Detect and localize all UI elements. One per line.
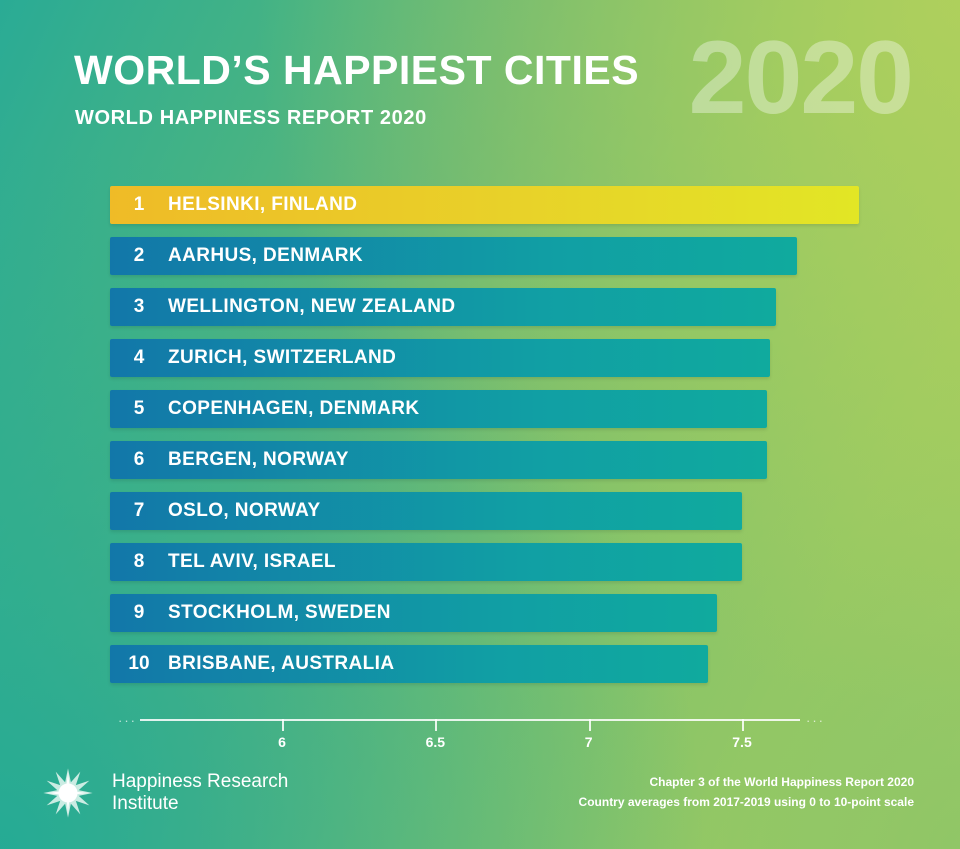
x-axis: ··· ··· 66.577.5 xyxy=(0,710,960,770)
rank-number: 3 xyxy=(110,296,168,318)
city-label: TEL AVIV, ISRAEL xyxy=(168,551,336,573)
chart-row: 7OSLO, NORWAY xyxy=(0,492,960,530)
chart-row: 2AARHUS, DENMARK xyxy=(0,237,960,275)
axis-line xyxy=(140,719,800,721)
city-label: STOCKHOLM, SWEDEN xyxy=(168,602,391,624)
axis-tick-label: 7 xyxy=(585,734,593,750)
chart-row: 1HELSINKI, FINLAND xyxy=(0,186,960,224)
axis-left-dots: ··· xyxy=(118,714,137,727)
rank-number: 8 xyxy=(110,551,168,573)
city-bar: 7OSLO, NORWAY xyxy=(110,492,742,530)
rank-number: 4 xyxy=(110,347,168,369)
city-label: WELLINGTON, NEW ZEALAND xyxy=(168,296,456,318)
chart-row: 3WELLINGTON, NEW ZEALAND xyxy=(0,288,960,326)
rank-number: 10 xyxy=(110,653,168,675)
city-label: OSLO, NORWAY xyxy=(168,500,321,522)
city-bar: 3WELLINGTON, NEW ZEALAND xyxy=(110,288,776,326)
city-label: BERGEN, NORWAY xyxy=(168,449,349,471)
page-subtitle: WORLD HAPPINESS REPORT 2020 xyxy=(75,108,427,128)
starburst-logo-icon xyxy=(40,765,96,821)
rank-number: 2 xyxy=(110,245,168,267)
chart-row: 4ZURICH, SWITZERLAND xyxy=(0,339,960,377)
chart-row: 8TEL AVIV, ISRAEL xyxy=(0,543,960,581)
credit-line-1: Chapter 3 of the World Happiness Report … xyxy=(579,772,914,792)
happiness-bar-chart: 1HELSINKI, FINLAND2AARHUS, DENMARK3WELLI… xyxy=(0,186,960,696)
axis-tick xyxy=(742,719,744,731)
rank-number: 6 xyxy=(110,449,168,471)
axis-tick xyxy=(589,719,591,731)
axis-tick xyxy=(435,719,437,731)
city-label: ZURICH, SWITZERLAND xyxy=(168,347,396,369)
city-bar: 4ZURICH, SWITZERLAND xyxy=(110,339,770,377)
organization-name: Happiness Research Institute xyxy=(112,771,288,816)
logo-line-2: Institute xyxy=(112,793,288,815)
city-bar: 10BRISBANE, AUSTRALIA xyxy=(110,645,708,683)
city-bar: 8TEL AVIV, ISRAEL xyxy=(110,543,742,581)
logo-line-1: Happiness Research xyxy=(112,771,288,793)
city-label: HELSINKI, FINLAND xyxy=(168,194,357,216)
rank-number: 1 xyxy=(110,194,168,216)
rank-number: 7 xyxy=(110,500,168,522)
city-bar: 2AARHUS, DENMARK xyxy=(110,237,797,275)
year-watermark: 2020 xyxy=(689,26,912,130)
axis-tick-label: 7.5 xyxy=(732,734,751,750)
city-label: BRISBANE, AUSTRALIA xyxy=(168,653,394,675)
city-bar: 1HELSINKI, FINLAND xyxy=(110,186,859,224)
chart-row: 10BRISBANE, AUSTRALIA xyxy=(0,645,960,683)
source-credits: Chapter 3 of the World Happiness Report … xyxy=(579,772,914,813)
city-bar: 9STOCKHOLM, SWEDEN xyxy=(110,594,717,632)
city-label: COPENHAGEN, DENMARK xyxy=(168,398,419,420)
axis-tick-label: 6 xyxy=(278,734,286,750)
city-bar: 5COPENHAGEN, DENMARK xyxy=(110,390,767,428)
credit-line-2: Country averages from 2017-2019 using 0 … xyxy=(579,792,914,812)
infographic-canvas: 2020 WORLD’S HAPPIEST CITIES WORLD HAPPI… xyxy=(0,0,960,849)
page-title: WORLD’S HAPPIEST CITIES xyxy=(74,50,639,91)
rank-number: 5 xyxy=(110,398,168,420)
chart-row: 9STOCKHOLM, SWEDEN xyxy=(0,594,960,632)
chart-row: 6BERGEN, NORWAY xyxy=(0,441,960,479)
organization-logo: Happiness Research Institute xyxy=(40,765,288,821)
axis-tick xyxy=(282,719,284,731)
axis-right-dots: ··· xyxy=(806,714,825,727)
chart-row: 5COPENHAGEN, DENMARK xyxy=(0,390,960,428)
axis-tick-label: 6.5 xyxy=(426,734,445,750)
city-bar: 6BERGEN, NORWAY xyxy=(110,441,767,479)
rank-number: 9 xyxy=(110,602,168,624)
city-label: AARHUS, DENMARK xyxy=(168,245,363,267)
